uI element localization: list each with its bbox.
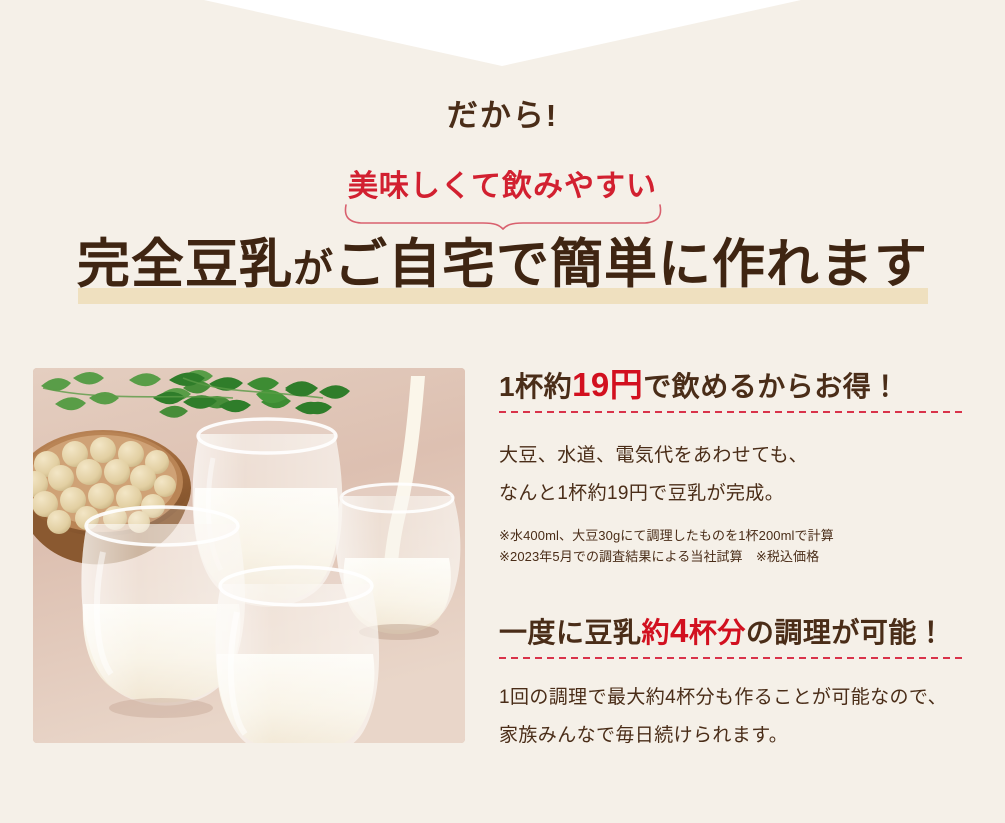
hero-subtitle: 美味しくて飲みやすい [0, 170, 1005, 203]
feature-body-capacity-line-1: 1回の調理で最大約4杯分も作ることが可能なので、 [499, 679, 979, 717]
feature-body-cost-line-1: 大豆、水道、電気代をあわせても、 [499, 437, 979, 475]
feature-heading-cost: 1杯約19円で飲めるからお得！ [499, 368, 979, 404]
hero-eyebrow: だから! [0, 100, 1005, 131]
content-columns: 1杯約19円で飲めるからお得！ 大豆、水道、電気代をあわせても、 なんと1杯約1… [0, 368, 1005, 768]
headline-part-2: が [293, 246, 334, 291]
top-white-notch [0, 0, 1005, 70]
feature-notes-cost: ※水400ml、大豆30gにて調理したものを1杯200mlで計算 ※2023年5… [499, 525, 979, 568]
feature-body-capacity-line-2: 家族みんなで毎日続けられます。 [499, 717, 979, 755]
feature-note-cost-2: ※2023年5月での調査結果による当社試算 ※税込価格 [499, 546, 979, 567]
feature-note-cost-1: ※水400ml、大豆30gにて調理したものを1杯200mlで計算 [499, 525, 979, 546]
feature-block-capacity: 一度に豆乳約4杯分の調理が可能！ 1回の調理で最大約4杯分も作ることが可能なので… [499, 614, 979, 755]
feature-heading-cost-pre: 1杯約 [499, 371, 572, 402]
feature-heading-capacity-pre: 一度に豆乳 [499, 617, 642, 648]
feature-heading-capacity-unit: 杯分 [689, 617, 746, 648]
feature-heading-capacity-approx: 約 [642, 617, 671, 648]
hero-subtitle-group: 美味しくて飲みやすい [0, 170, 1005, 230]
feature-heading-capacity-num: 4 [670, 612, 689, 649]
feature-heading-cost-post: で飲めるからお得！ [643, 371, 900, 402]
feature-body-cost: 大豆、水道、電気代をあわせても、 なんと1杯約19円で豆乳が完成。 [499, 437, 979, 513]
headline-part-3: ご自宅で簡単に作れます [334, 236, 928, 294]
feature-body-cost-line-2: なんと1杯約19円で豆乳が完成。 [499, 475, 979, 513]
soymilk-glasses-photo [33, 368, 465, 743]
hero-headline: 完全豆乳がご自宅で簡単に作れます [0, 236, 1005, 294]
soymilk-landing-section: { "theme": { "background": "#f5f0e8", "b… [0, 0, 1005, 823]
headline-part-1: 完全豆乳 [77, 236, 293, 294]
feature-body-capacity: 1回の調理で最大約4杯分も作ることが可能なので、 家族みんなで毎日続けられます。 [499, 679, 979, 755]
feature-block-cost: 1杯約19円で飲めるからお得！ 大豆、水道、電気代をあわせても、 なんと1杯約1… [499, 368, 979, 568]
feature-heading-capacity-post: の調理が可能！ [746, 617, 946, 648]
feature-heading-capacity: 一度に豆乳約4杯分の調理が可能！ [499, 614, 979, 650]
ribbon-bracket-decoration [343, 204, 663, 230]
hero-headline-group: 完全豆乳がご自宅で簡単に作れます [0, 236, 1005, 308]
feature-heading-cost-price: 19円 [572, 366, 643, 403]
features-column: 1杯約19円で飲めるからお得！ 大豆、水道、電気代をあわせても、 なんと1杯約1… [499, 368, 979, 755]
